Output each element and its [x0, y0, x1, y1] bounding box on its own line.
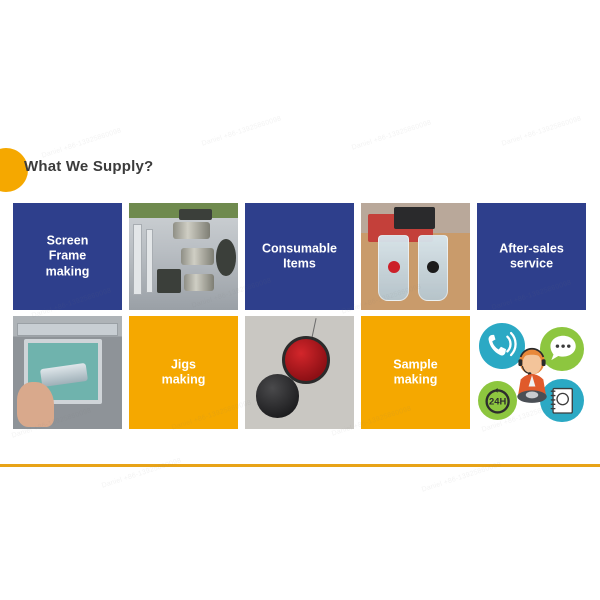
slide-title-row: What We Supply?: [0, 148, 600, 192]
page-title: What We Supply?: [24, 158, 153, 175]
tile-screen-frame-making[interactable]: Screen Frame making: [13, 203, 122, 310]
tile-sample-making[interactable]: Sample making: [361, 316, 470, 429]
tile-photo-screen-frame-machine[interactable]: [129, 203, 238, 310]
tile-photo-screen-printing[interactable]: [13, 316, 122, 429]
bottom-divider: [0, 464, 600, 467]
tile-customer-support-illustration[interactable]: 24H: [477, 316, 586, 429]
photo-screen-frame-machine: [129, 203, 238, 310]
watermark-text: Daniel +86-13925860098: [351, 119, 432, 151]
photo-screen-printing: [13, 316, 122, 429]
tile-photo-printed-cups[interactable]: [361, 203, 470, 310]
tile-photo-red-ink[interactable]: [245, 316, 354, 429]
photo-printed-cups: [361, 203, 470, 310]
tile-after-sales-service[interactable]: After-sales service: [477, 203, 586, 310]
customer-support-illustration: 24H: [477, 316, 586, 429]
tile-jigs-making[interactable]: Jigs making: [129, 316, 238, 429]
watermark-text: Daniel +86-13925860098: [201, 115, 282, 147]
watermark-text: Daniel +86-13925860098: [101, 457, 182, 489]
tile-label: Jigs making: [129, 357, 238, 388]
tile-label: Sample making: [361, 357, 470, 388]
tile-label: After-sales service: [477, 241, 586, 272]
supply-grid: Screen Frame making Consumable Items: [13, 203, 587, 429]
tile-label: Screen Frame making: [13, 233, 122, 280]
support-agent-avatar: [503, 335, 560, 416]
tile-label: Consumable Items: [245, 241, 354, 272]
tile-consumable-items[interactable]: Consumable Items: [245, 203, 354, 310]
photo-red-ink: [245, 316, 354, 429]
watermark-text: Daniel +86-13925860098: [501, 115, 582, 147]
slide-canvas: What We Supply? Screen Frame making Cons…: [0, 0, 600, 600]
